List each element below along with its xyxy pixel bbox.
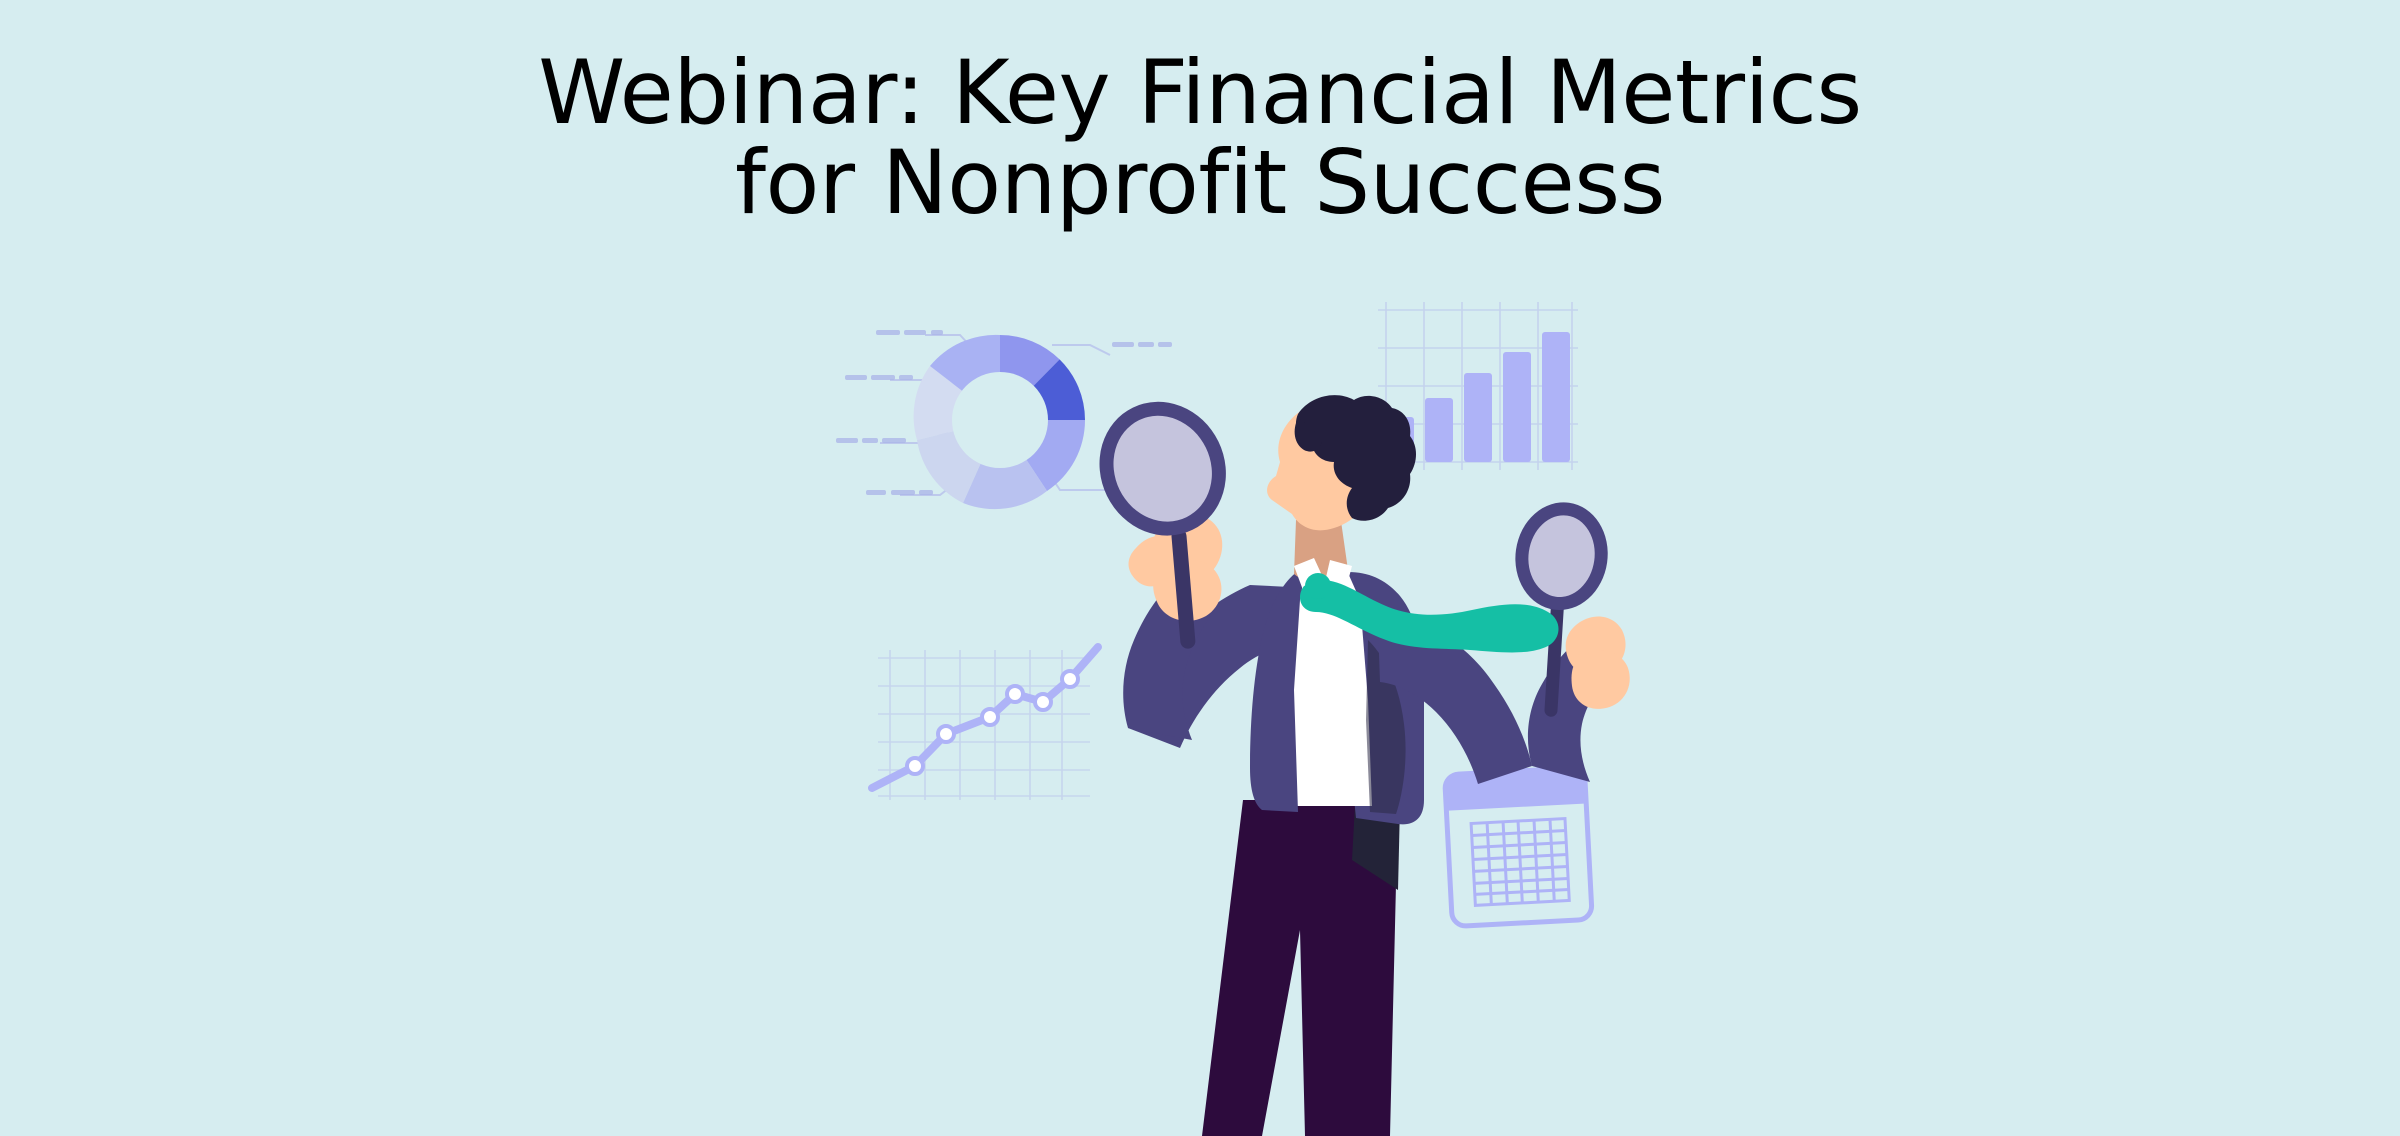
right-hand: [1566, 616, 1630, 708]
tie-knot: [1305, 573, 1331, 599]
page-title: Webinar: Key Financial Metrics for Nonpr…: [0, 48, 2400, 228]
bar-2: [1425, 398, 1453, 462]
bar-5: [1542, 332, 1570, 462]
title-line-1: Webinar: Key Financial Metrics: [0, 48, 2400, 138]
title-line-2: for Nonprofit Success: [0, 138, 2400, 228]
webinar-banner: Webinar: Key Financial Metrics for Nonpr…: [0, 0, 2400, 1136]
spreadsheet-icon: [1445, 767, 1593, 926]
bar-3: [1464, 373, 1492, 462]
trousers: [1202, 800, 1400, 1136]
donut-segments: [914, 335, 1085, 509]
person-figure: [1077, 380, 1630, 1136]
spreadsheet-grid: [1471, 819, 1569, 906]
bar-4: [1503, 352, 1531, 462]
line-chart: [872, 647, 1098, 800]
